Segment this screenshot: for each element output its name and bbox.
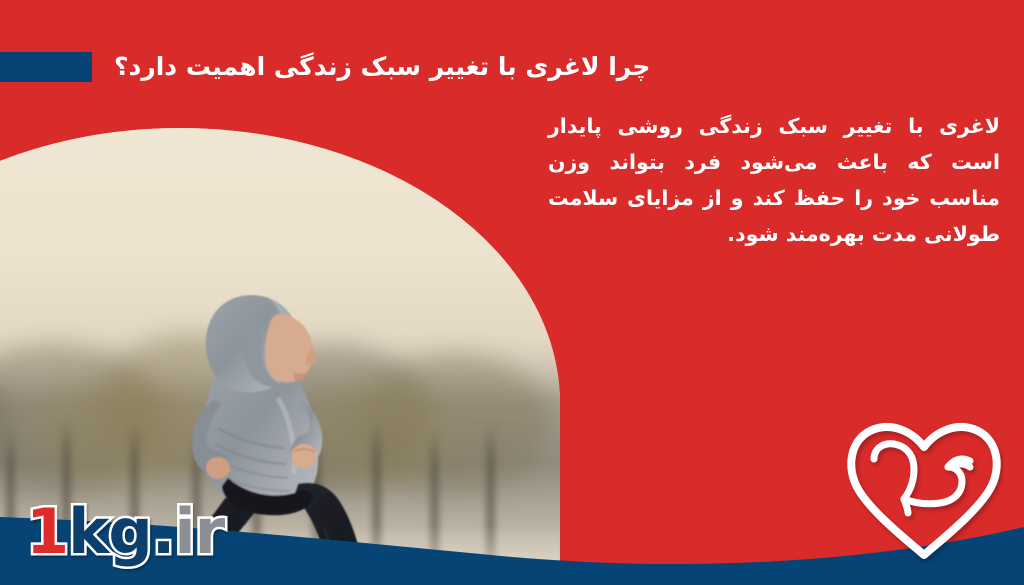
fist-accent <box>948 464 970 467</box>
title-accent-bar <box>0 52 92 82</box>
weight-loss-banner: چرا لاغری با تغییر سبک زندگی اهمیت دارد؟… <box>0 0 1024 585</box>
heart-bicep-icon <box>844 413 1004 563</box>
title-row: چرا لاغری با تغییر سبک زندگی اهمیت دارد؟ <box>0 42 1024 92</box>
logo-part-dot: . <box>152 495 175 568</box>
body-paragraph: لاغری با تغییر سبک زندگی روشی پایدار است… <box>548 108 1000 252</box>
arm-lower <box>904 499 908 513</box>
heart-outline <box>851 427 997 555</box>
body-text-block: لاغری با تغییر سبک زندگی روشی پایدار است… <box>548 108 1000 252</box>
bicep-arm <box>874 444 970 504</box>
site-logo[interactable]: 1kg.ir <box>26 501 224 563</box>
logo-part-ir: ir <box>174 495 224 568</box>
logo-part-kg: kg <box>68 495 152 568</box>
page-title: چرا لاغری با تغییر سبک زندگی اهمیت دارد؟ <box>114 51 650 82</box>
logo-part-one: 1 <box>26 495 68 568</box>
